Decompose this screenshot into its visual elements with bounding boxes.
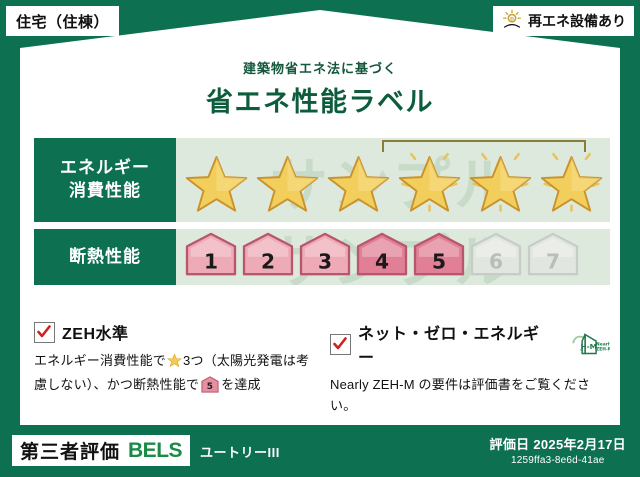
insulation-level-badges: 1 2 3 4 5 6 7	[184, 231, 580, 284]
insulation-badge-inactive: 7	[526, 231, 580, 284]
zeh-m-house-icon: H-M Nearly ZEH-M	[566, 331, 610, 357]
note-nze-body: Nearly ZEH-M の要件は評価書をご覧ください。	[330, 375, 610, 417]
svg-text:5: 5	[432, 249, 446, 273]
insulation-performance-row: 断熱性能 サンプル 1 2 3 4 5 6	[34, 229, 610, 285]
note-zeh-body-part3: を達成	[221, 377, 261, 392]
energy-performance-stars-area: サンプル 太陽光発電(自家消費)分	[176, 138, 610, 222]
sun-icon: D	[501, 9, 523, 34]
note-zeh-header: ZEH水準	[34, 320, 314, 344]
star-filled	[253, 145, 322, 215]
insulation-level-area: サンプル 1 2 3 4 5 6 7	[176, 229, 610, 285]
ratings-section: エネルギー 消費性能 サンプル 太陽光発電(自家消費)分	[34, 138, 610, 292]
insulation-badge-inactive: 6	[469, 231, 523, 284]
insulation-badge-active: 5	[412, 231, 466, 284]
svg-text:D: D	[510, 16, 514, 22]
bels-certification-mark: 第三者評価 BELS	[12, 435, 190, 466]
insulation-performance-label: 断熱性能	[34, 229, 176, 285]
star-solar	[466, 145, 535, 215]
energy-performance-row: エネルギー 消費性能 サンプル 太陽光発電(自家消費)分	[34, 138, 610, 222]
note-nze-title: ネット・ゼロ・エネルギー	[358, 320, 554, 368]
check-icon	[330, 334, 351, 355]
svg-text:5: 5	[207, 382, 213, 392]
notes-section: ZEH水準 エネルギー消費性能で3つ（太陽光発電は考慮しない）、かつ断熱性能で5…	[34, 320, 610, 417]
title-main: 省エネ性能ラベル	[0, 80, 640, 119]
svg-text:1: 1	[204, 249, 218, 273]
insulation-badge-active: 4	[355, 231, 409, 284]
renewable-energy-badge: D 再エネ設備あり	[493, 6, 634, 36]
insulation-badge-active: 1	[184, 231, 238, 284]
inline-insulation-badge: 5	[201, 376, 219, 393]
note-zeh-body-part1: エネルギー消費性能で	[34, 353, 166, 368]
third-party-label: 第三者評価	[20, 437, 120, 464]
bels-logo: BELS	[128, 439, 182, 463]
check-icon	[34, 322, 55, 343]
energy-label-page: 住宅（住棟） D 再エネ設備あり 建築物省エネ法に基づく 省エネ性能ラベル	[0, 0, 640, 477]
star-solar	[537, 145, 606, 215]
svg-text:ZEH-M: ZEH-M	[596, 347, 610, 353]
note-net-zero-energy: ネット・ゼロ・エネルギー H-M Nearly ZEH-M Nearly ZEH…	[330, 320, 610, 417]
building-type-tag: 住宅（住棟）	[6, 6, 119, 36]
solar-portion-label: 太陽光発電(自家消費)分	[372, 138, 596, 139]
building-type-label: 住宅（住棟）	[16, 11, 109, 32]
evaluation-date: 評価日 2025年2月17日	[490, 434, 626, 453]
evaluation-info: 評価日 2025年2月17日 1259ffa3-8e6d-41ae	[490, 434, 626, 466]
evaluation-id: 1259ffa3-8e6d-41ae	[490, 455, 626, 466]
star-filled	[182, 145, 251, 215]
svg-text:6: 6	[489, 249, 503, 273]
star-icon	[167, 353, 182, 375]
note-zeh-title: ZEH水準	[62, 320, 129, 344]
svg-text:7: 7	[546, 249, 560, 273]
title-subtitle: 建築物省エネ法に基づく	[0, 58, 640, 77]
label-title: 建築物省エネ法に基づく 省エネ性能ラベル	[0, 58, 640, 119]
star-solar	[395, 145, 464, 215]
solar-portion-bracket	[382, 140, 586, 152]
star-rating	[182, 145, 606, 215]
svg-text:4: 4	[375, 249, 389, 273]
insulation-badge-active: 2	[241, 231, 295, 284]
renewable-badge-label: 再エネ設備あり	[528, 11, 626, 31]
property-name: ユートリーIII	[200, 442, 280, 461]
note-zeh-standard: ZEH水準 エネルギー消費性能で3つ（太陽光発電は考慮しない）、かつ断熱性能で5…	[34, 320, 314, 417]
insulation-badge-active: 3	[298, 231, 352, 284]
note-nze-header: ネット・ゼロ・エネルギー H-M Nearly ZEH-M	[330, 320, 610, 368]
energy-performance-label: エネルギー 消費性能	[34, 138, 176, 222]
svg-text:Nearly: Nearly	[596, 341, 610, 347]
note-zeh-body: エネルギー消費性能で3つ（太陽光発電は考慮しない）、かつ断熱性能で5を達成	[34, 351, 314, 396]
svg-text:3: 3	[318, 249, 332, 273]
star-filled	[324, 145, 393, 215]
svg-text:2: 2	[261, 249, 275, 273]
footer-bar: 第三者評価 BELS ユートリーIII 評価日 2025年2月17日 1259f…	[0, 429, 640, 477]
svg-text:H-M: H-M	[580, 342, 596, 351]
